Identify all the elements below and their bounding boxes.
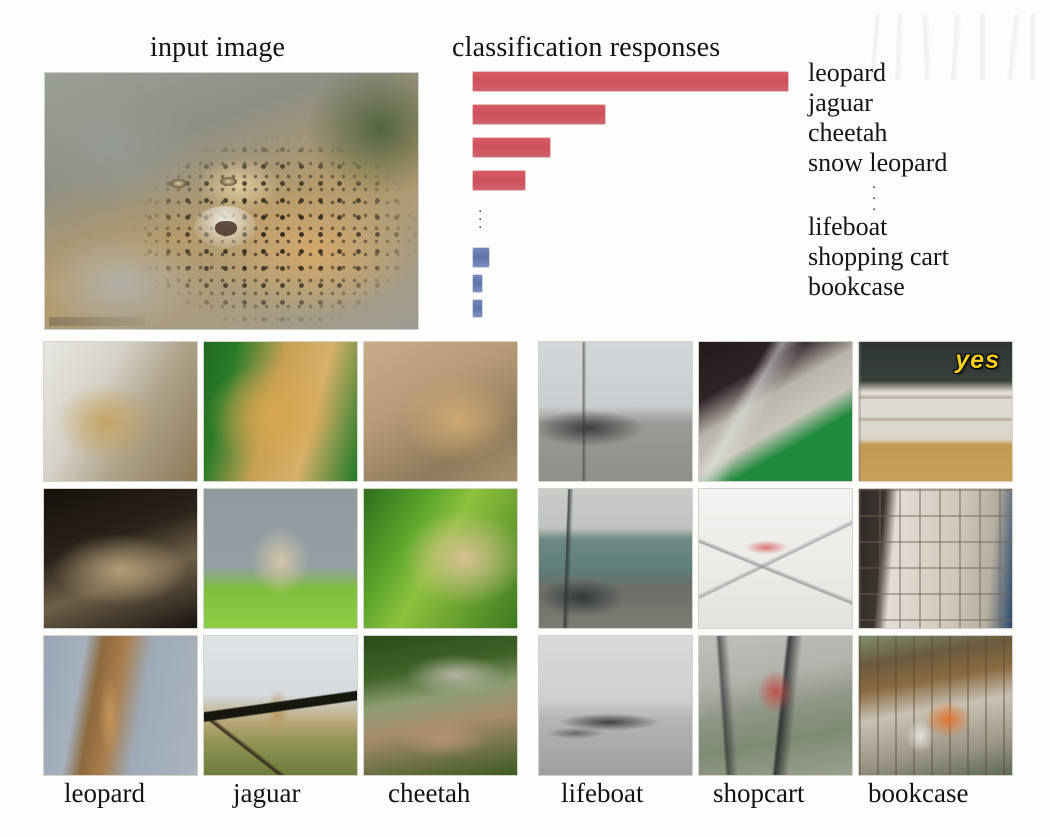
bar-snow-leopard (473, 171, 525, 190)
bar-cheetah (473, 138, 550, 157)
bottom-label-lifeboat: lifeboat (561, 778, 643, 809)
thumbnail-leopard-r2c1 (43, 488, 198, 629)
bottom-label-leopard: leopard (64, 778, 145, 809)
class-label-ellipsis-icon: ... (808, 178, 1048, 212)
thumbnail-jaguar-r2c2 (203, 488, 358, 629)
thumbnail-shopcart-r1c2 (698, 341, 853, 482)
bar-jaguar (473, 105, 605, 124)
bottom-label-shopcart: shopcart (713, 778, 804, 809)
class-label-jaguar: jaguar (808, 88, 1048, 118)
class-label-lifeboat: lifeboat (808, 212, 1048, 242)
bar-ellipsis-icon: ... (478, 204, 482, 228)
classification-response-bar-chart: ... (473, 68, 803, 323)
thumbnail-lifeboat-r1c1 (538, 341, 693, 482)
class-label-shopping-cart: shopping cart (808, 242, 1048, 272)
left-thumbnail-grid (43, 341, 518, 776)
leopard-right-eye (220, 177, 237, 186)
class-label-snow-leopard: snow leopard (808, 148, 1048, 178)
thumbnail-shopcart-r2c2 (698, 488, 853, 629)
input-image-photo (44, 72, 419, 330)
thumbnail-leopard-r3c1 (43, 635, 198, 776)
figure-canvas: input image classification responses ...… (0, 0, 1050, 837)
thumbnail-shopcart-r3c2 (698, 635, 853, 776)
class-label-leopard: leopard (808, 58, 1048, 88)
thumbnail-jaguar-r3c2 (203, 635, 358, 776)
thumbnail-bookcase-r3c3 (858, 635, 1013, 776)
bar-bookcase (473, 300, 482, 317)
bottom-label-bookcase: bookcase (868, 778, 968, 809)
yes-overlay-text: yes (955, 346, 1000, 375)
photo-corner-watermark (49, 317, 145, 326)
thumbnail-lifeboat-r3c1 (538, 635, 693, 776)
input-image-title: input image (150, 32, 285, 64)
thumbnail-lifeboat-r2c1 (538, 488, 693, 629)
bottom-label-cheetah: cheetah (388, 778, 470, 809)
thumbnail-cheetah-r2c3 (363, 488, 518, 629)
thumbnail-leopard-r1c1 (43, 341, 198, 482)
class-label-list: leopard jaguar cheetah snow leopard ... … (808, 58, 1048, 302)
bar-lifeboat (473, 248, 489, 267)
thumbnail-jaguar-r1c2 (203, 341, 358, 482)
bottom-label-jaguar: jaguar (233, 778, 300, 809)
classification-responses-title: classification responses (452, 32, 720, 64)
bar-shopping-cart (473, 275, 482, 292)
right-thumbnail-grid: yes (538, 341, 1013, 776)
thumbnail-cheetah-r1c3 (363, 341, 518, 482)
class-label-cheetah: cheetah (808, 118, 1048, 148)
thumbnail-bookcase-r2c3 (858, 488, 1013, 629)
bar-leopard (473, 72, 788, 91)
thumbnail-bookcase-r1c3: yes (858, 341, 1013, 482)
thumbnail-cheetah-r3c3 (363, 635, 518, 776)
class-label-bookcase: bookcase (808, 272, 1048, 302)
leopard-spot-texture (45, 73, 418, 329)
